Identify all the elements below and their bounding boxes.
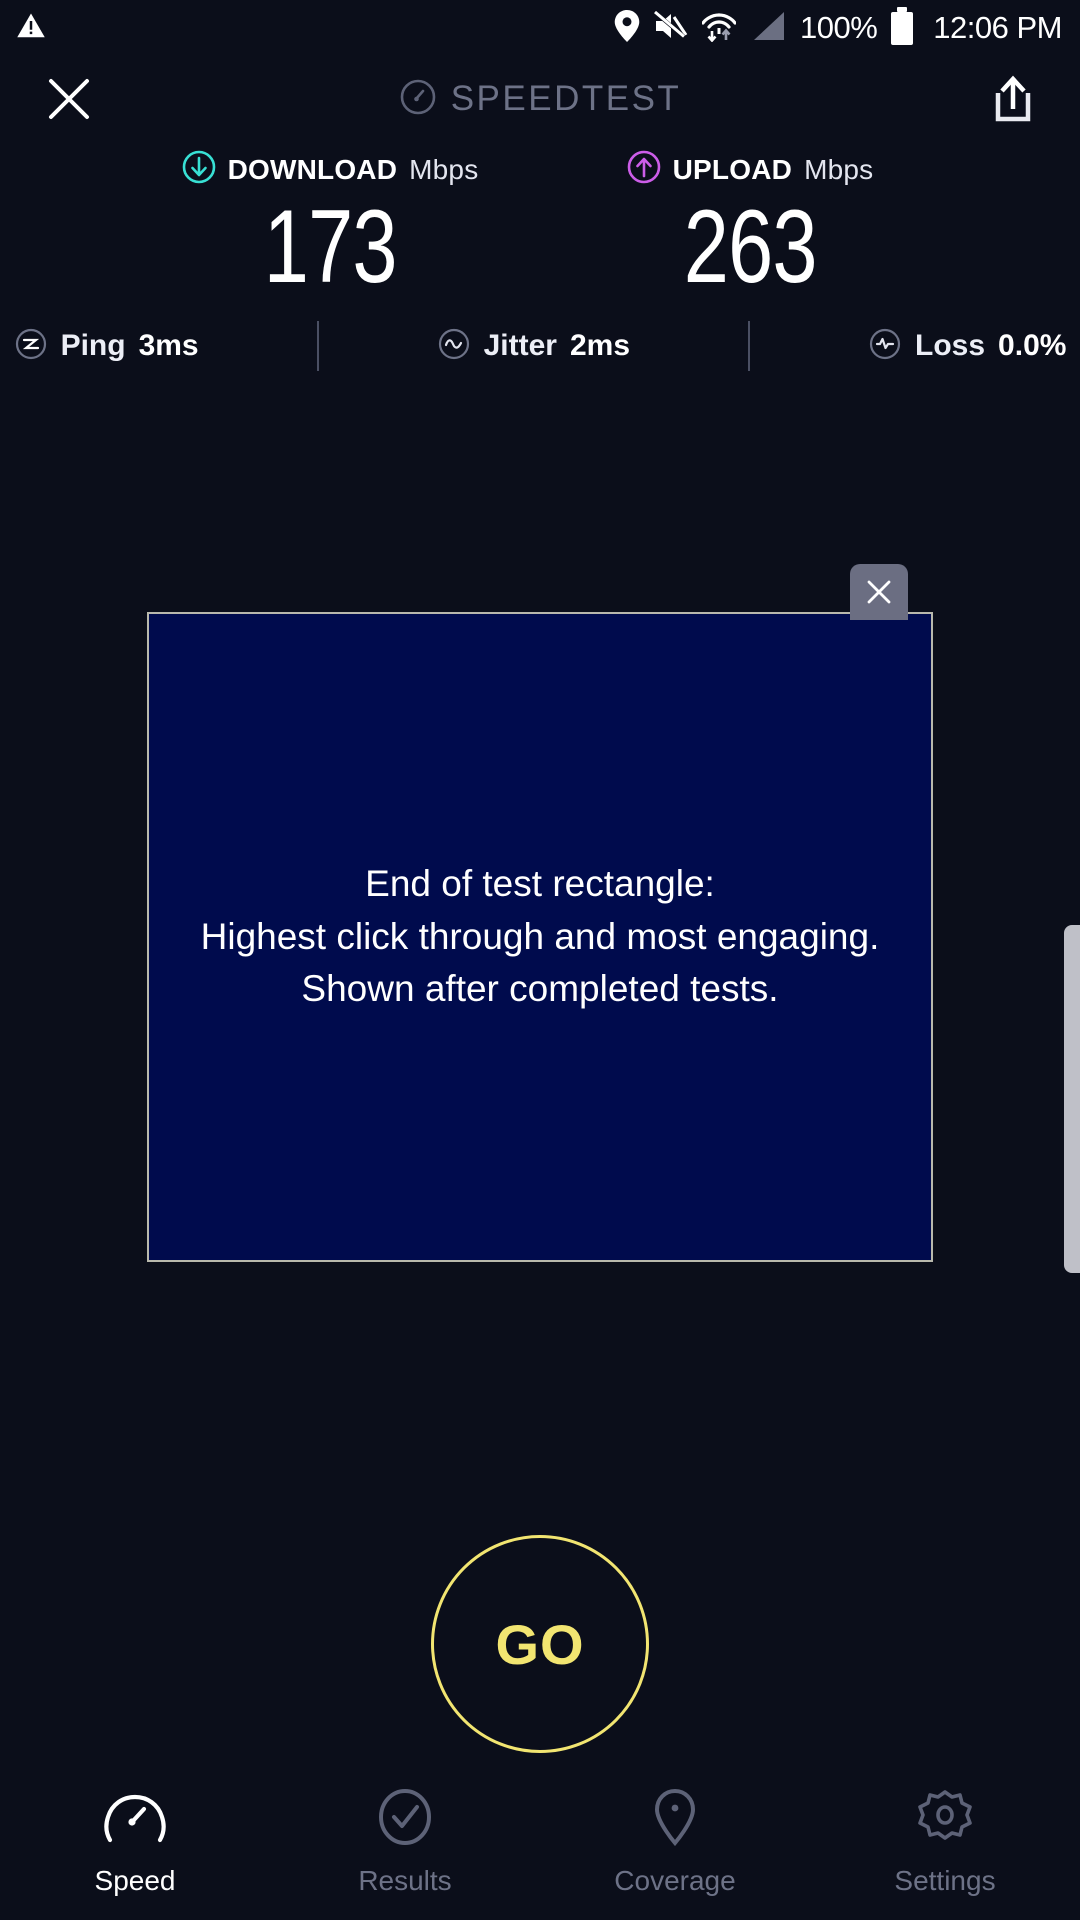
stat-divider-2: [748, 321, 750, 371]
bottom-navigation: Speed Results Coverage: [0, 1780, 1080, 1920]
download-header: DOWNLOAD Mbps: [182, 150, 479, 189]
brand-label: SPEEDTEST: [451, 79, 682, 119]
ad-line-3: Shown after completed tests.: [201, 963, 880, 1016]
ad-line-1: End of test rectangle:: [201, 858, 880, 911]
status-bar-left: [16, 11, 46, 46]
go-button-label: GO: [495, 1612, 584, 1677]
cellular-signal-icon: [750, 10, 786, 47]
jitter-icon: [437, 327, 471, 366]
stat-ping: Ping 3ms: [14, 327, 199, 366]
stat-loss-value: 0.0%: [998, 329, 1066, 363]
connection-stats-row: Ping 3ms Jitter 2ms: [0, 321, 1080, 371]
upload-label: UPLOAD: [673, 154, 792, 186]
gear-icon: [914, 1788, 976, 1851]
warning-triangle-icon: [16, 11, 46, 46]
brand-title: SPEEDTEST: [0, 78, 1080, 121]
go-button[interactable]: GO: [431, 1535, 649, 1753]
stat-ping-value: 3ms: [139, 329, 199, 363]
stat-jitter-label: Jitter: [484, 329, 557, 363]
status-bar-right: 100% 12:06 PM: [614, 10, 1062, 47]
upload-header: UPLOAD Mbps: [627, 150, 874, 189]
speedometer-icon: [104, 1788, 166, 1851]
close-icon: [45, 75, 93, 123]
stat-jitter: Jitter 2ms: [437, 327, 630, 366]
scrollbar-thumb[interactable]: [1064, 925, 1080, 1273]
wifi-icon: [702, 10, 736, 47]
upload-value: 263: [683, 195, 816, 299]
stat-divider-1: [317, 321, 319, 371]
upload-metric: UPLOAD Mbps 263: [600, 150, 900, 299]
check-circle-icon: [374, 1788, 436, 1851]
speedtest-app-screen: 100% 12:06 PM SPEEDTEST: [0, 0, 1080, 1920]
location-pin-icon: [614, 10, 640, 47]
speed-results-row: DOWNLOAD Mbps 173 UPLOAD Mbps 263: [0, 142, 1080, 299]
advertisement-container: End of test rectangle: Highest click thr…: [147, 612, 933, 1262]
clock-label: 12:06 PM: [933, 10, 1062, 46]
ad-close-button[interactable]: [850, 564, 908, 620]
nav-label-settings: Settings: [894, 1865, 995, 1897]
nav-item-speed[interactable]: Speed: [0, 1788, 270, 1897]
stat-jitter-value: 2ms: [570, 329, 630, 363]
close-button[interactable]: [26, 56, 112, 142]
nav-label-results: Results: [358, 1865, 451, 1897]
battery-percent-label: 100%: [800, 10, 877, 46]
download-label: DOWNLOAD: [228, 154, 398, 186]
speedometer-icon: [399, 78, 437, 121]
download-value: 173: [263, 195, 396, 299]
arrow-up-circle-icon: [627, 150, 661, 189]
stat-ping-label: Ping: [61, 329, 126, 363]
advertisement-banner[interactable]: End of test rectangle: Highest click thr…: [147, 612, 933, 1262]
nav-item-results[interactable]: Results: [270, 1788, 540, 1897]
ping-icon: [14, 327, 48, 366]
download-unit: Mbps: [409, 154, 478, 186]
app-header: SPEEDTEST: [0, 56, 1080, 142]
nav-label-speed: Speed: [95, 1865, 176, 1897]
nav-item-coverage[interactable]: Coverage: [540, 1788, 810, 1897]
mute-icon: [654, 11, 688, 46]
share-icon: [990, 75, 1036, 123]
loss-icon: [868, 327, 902, 366]
ad-line-2: Highest click through and most engaging.: [201, 911, 880, 964]
status-bar: 100% 12:06 PM: [0, 0, 1080, 56]
battery-full-icon: [891, 12, 913, 45]
stat-loss-label: Loss: [915, 329, 985, 363]
stat-loss: Loss 0.0%: [868, 327, 1066, 366]
nav-item-settings[interactable]: Settings: [810, 1788, 1080, 1897]
nav-label-coverage: Coverage: [614, 1865, 735, 1897]
arrow-down-circle-icon: [182, 150, 216, 189]
close-icon: [864, 577, 894, 607]
upload-unit: Mbps: [804, 154, 873, 186]
results-section: DOWNLOAD Mbps 173 UPLOAD Mbps 263: [0, 142, 1080, 371]
advertisement-text: End of test rectangle: Highest click thr…: [201, 858, 880, 1016]
share-button[interactable]: [976, 62, 1050, 136]
download-metric: DOWNLOAD Mbps 173: [180, 150, 480, 299]
location-pin-icon: [644, 1788, 706, 1851]
